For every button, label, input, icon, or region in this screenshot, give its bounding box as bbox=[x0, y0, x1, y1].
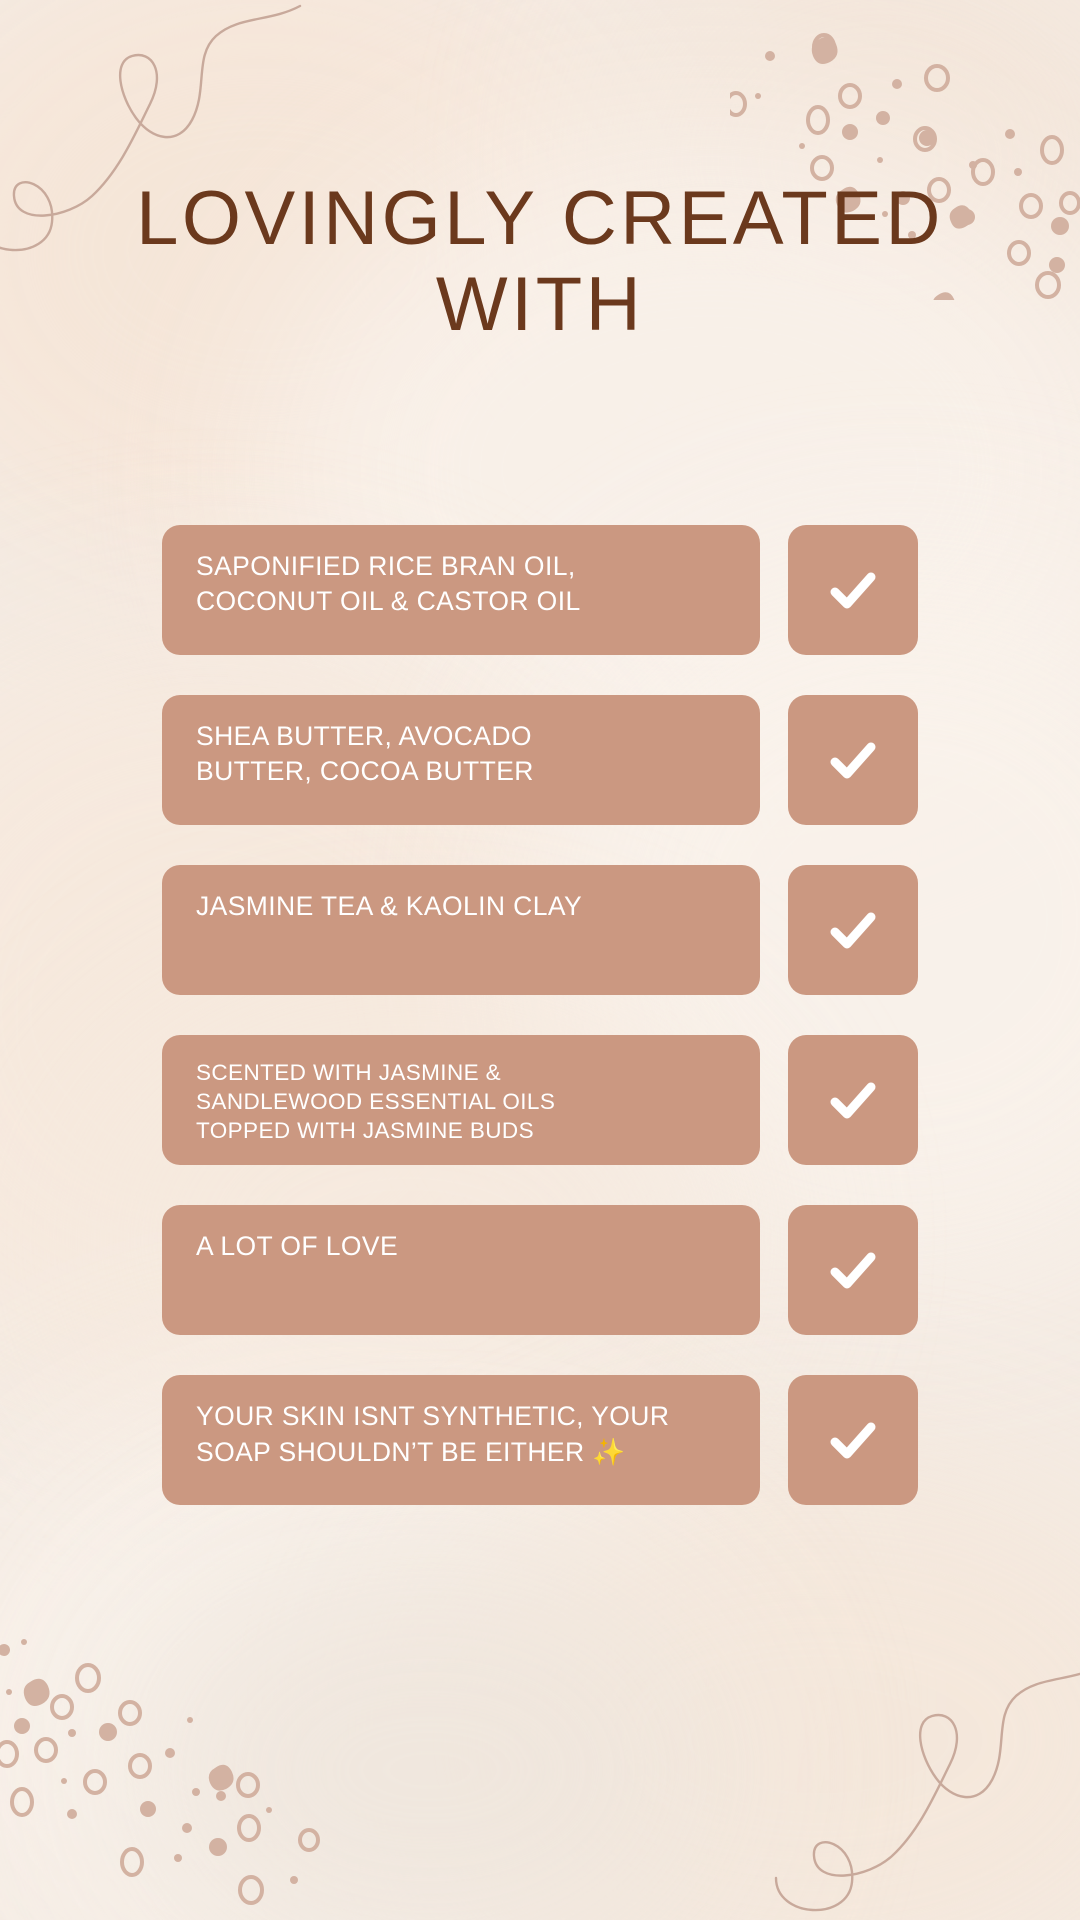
check-icon bbox=[822, 899, 884, 961]
checkmark-box[interactable] bbox=[788, 1205, 918, 1335]
checkmark-box[interactable] bbox=[788, 695, 918, 825]
checkmark-box[interactable] bbox=[788, 1035, 918, 1165]
ingredient-label: YOUR SKIN ISNT SYNTHETIC, YOUR SOAP SHOU… bbox=[196, 1399, 726, 1469]
scattered-dots-icon bbox=[0, 1600, 350, 1920]
ingredient-label: SHEA BUTTER, AVOCADO BUTTER, COCOA BUTTE… bbox=[196, 719, 726, 789]
ingredient-label: A LOT OF LOVE bbox=[196, 1229, 726, 1264]
checkmark-box[interactable] bbox=[788, 1375, 918, 1505]
squiggle-line-icon bbox=[770, 1660, 1080, 1920]
list-item: A LOT OF LOVE bbox=[162, 1205, 918, 1335]
ingredient-pill[interactable]: YOUR SKIN ISNT SYNTHETIC, YOUR SOAP SHOU… bbox=[162, 1375, 760, 1505]
ingredient-label: JASMINE TEA & KAOLIN CLAY bbox=[196, 889, 726, 924]
ingredient-list: SAPONIFIED RICE BRAN OIL, COCONUT OIL & … bbox=[162, 525, 918, 1505]
list-item: SCENTED WITH JASMINE & SANDLEWOOD ESSENT… bbox=[162, 1035, 918, 1165]
ingredient-pill[interactable]: SCENTED WITH JASMINE & SANDLEWOOD ESSENT… bbox=[162, 1035, 760, 1165]
checkmark-box[interactable] bbox=[788, 525, 918, 655]
check-icon bbox=[822, 1069, 884, 1131]
list-item: YOUR SKIN ISNT SYNTHETIC, YOUR SOAP SHOU… bbox=[162, 1375, 918, 1505]
check-icon bbox=[822, 1409, 884, 1471]
ingredient-pill[interactable]: JASMINE TEA & KAOLIN CLAY bbox=[162, 865, 760, 995]
checkmark-box[interactable] bbox=[788, 865, 918, 995]
check-icon bbox=[822, 1239, 884, 1301]
list-item: SHEA BUTTER, AVOCADO BUTTER, COCOA BUTTE… bbox=[162, 695, 918, 825]
check-icon bbox=[822, 729, 884, 791]
list-item: JASMINE TEA & KAOLIN CLAY bbox=[162, 865, 918, 995]
page-header: LOVINGLY CREATED WITH bbox=[0, 176, 1080, 348]
background-wash bbox=[420, 1460, 1080, 1920]
ingredient-label: SAPONIFIED RICE BRAN OIL, COCONUT OIL & … bbox=[196, 549, 726, 619]
ingredient-pill[interactable]: SAPONIFIED RICE BRAN OIL, COCONUT OIL & … bbox=[162, 525, 760, 655]
ingredient-label: SCENTED WITH JASMINE & SANDLEWOOD ESSENT… bbox=[196, 1059, 726, 1145]
poster-canvas: LOVINGLY CREATED WITH SAPONIFIED RICE BR… bbox=[0, 0, 1080, 1920]
page-title: LOVINGLY CREATED WITH bbox=[0, 176, 1080, 348]
check-icon bbox=[822, 559, 884, 621]
ingredient-pill[interactable]: SHEA BUTTER, AVOCADO BUTTER, COCOA BUTTE… bbox=[162, 695, 760, 825]
ingredient-pill[interactable]: A LOT OF LOVE bbox=[162, 1205, 760, 1335]
background-wash bbox=[120, 1540, 740, 1920]
list-item: SAPONIFIED RICE BRAN OIL, COCONUT OIL & … bbox=[162, 525, 918, 655]
